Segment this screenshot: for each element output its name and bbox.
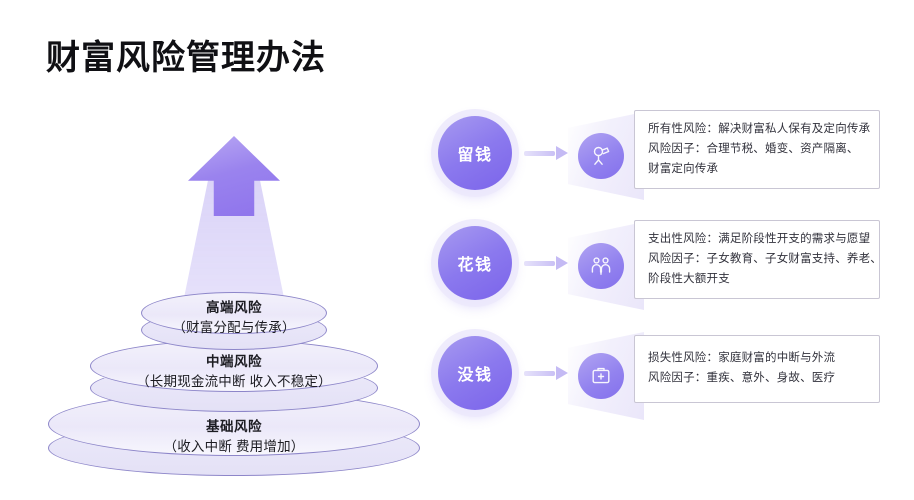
risk-info-card: 支出性风险：满足阶段性开支的需求与愿望 风险因子：子女教育、子女财富支持、养老、… (634, 220, 880, 299)
up-arrow-icon (188, 136, 280, 216)
risk-info-line: 损失性风险：家庭财富的中断与外流 (648, 349, 867, 369)
arrow-right-icon (524, 366, 568, 380)
risk-category-row: 花钱 支出性风险：满足阶段性开支的需求与愿望 风险因子：子女教育、子女财富支持、… (432, 220, 880, 316)
risk-info-line: 风险因子：合理节税、婚变、资产隔离、 (648, 140, 867, 160)
wealth-risk-pyramid: 高端风险 （财富分配与传承） 中端风险 （长期现金流中断 收入不稳定） 基础风险… (38, 120, 430, 385)
risk-info-line: 阶段性大额开支 (648, 270, 867, 290)
risk-info-card: 所有性风险：解决财富私人保有及定向传承 风险因子：合理节税、婚变、资产隔离、 财… (634, 110, 880, 189)
slide-canvas: 财富风险管理办法 高端风险 （财富分配与传承） 中端风险 （长期现金流中断 收入… (0, 0, 914, 500)
arrow-right-icon (524, 256, 568, 270)
pyramid-tier-top-top (141, 292, 327, 334)
risk-info-line: 风险因子：子女教育、子女财富支持、养老、 (648, 250, 867, 270)
family-icon (578, 243, 624, 289)
risk-info-line: 财富定向传承 (648, 160, 867, 180)
telescope-icon (578, 133, 624, 179)
medical-shield-icon (578, 353, 624, 399)
risk-info-line: 支出性风险：满足阶段性开支的需求与愿望 (648, 230, 867, 250)
risk-category-row: 没钱 损失性风险：家庭财富的中断与外流 风险因子：重疾、意外、身故、医疗 (432, 330, 880, 426)
category-badge-liu-qian[interactable]: 留钱 (438, 116, 512, 190)
risk-category-row: 留钱 所有性风险：解决财富私人保有及定向传承 风险因子：合理节税、婚变、资产隔离… (432, 110, 880, 206)
arrow-right-icon (524, 146, 568, 160)
page-title: 财富风险管理办法 (46, 38, 326, 79)
risk-info-line: 风险因子：重疾、意外、身故、医疗 (648, 369, 867, 389)
risk-info-line: 所有性风险：解决财富私人保有及定向传承 (648, 120, 867, 140)
category-badge-mei-qian[interactable]: 没钱 (438, 336, 512, 410)
category-badge-hua-qian[interactable]: 花钱 (438, 226, 512, 300)
risk-info-card: 损失性风险：家庭财富的中断与外流 风险因子：重疾、意外、身故、医疗 (634, 335, 880, 403)
risk-category-list: 留钱 所有性风险：解决财富私人保有及定向传承 风险因子：合理节税、婚变、资产隔离… (432, 98, 880, 418)
